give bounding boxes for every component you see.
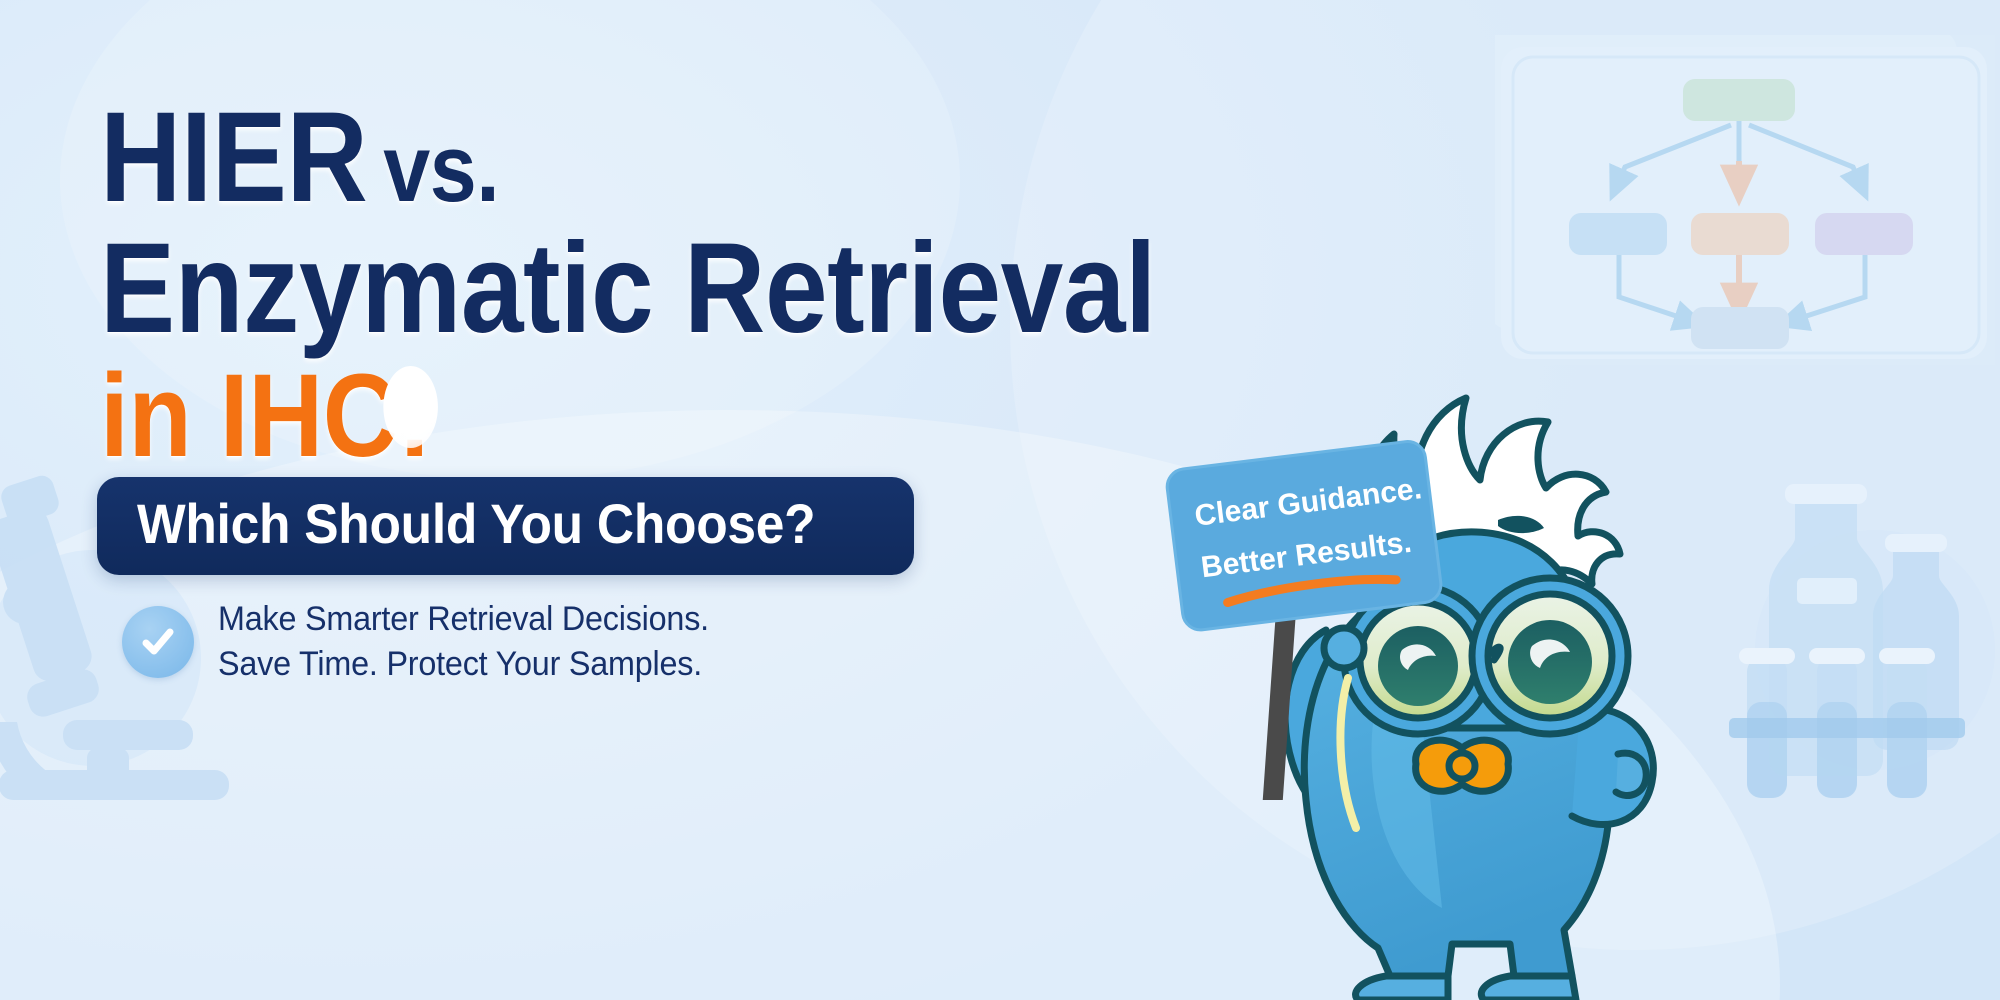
- headline-vs: vs.: [383, 115, 499, 222]
- headline-block: HIERvs. Enzymatic Retrieval in IHC:: [100, 95, 1220, 475]
- headline-line-1: HIERvs.: [100, 95, 1086, 222]
- decision-flowchart-watermark: [1495, 35, 1995, 355]
- banner-canvas: HIERvs. Enzymatic Retrieval in IHC: Whic…: [0, 0, 2000, 1000]
- subhead-badge-label: Which Should You Choose?: [137, 496, 815, 552]
- headline-hier: HIER: [100, 86, 367, 229]
- check-circle-icon: [122, 606, 194, 678]
- headline-line-3: in IHC:: [100, 358, 1086, 475]
- tagline-line-2: Save Time. Protect Your Samples.: [218, 642, 709, 687]
- tagline-text: Make Smarter Retrieval Decisions. Save T…: [218, 597, 709, 687]
- headline-in-ihc-text: in IHC:: [100, 350, 431, 482]
- tagline-row: Make Smarter Retrieval Decisions. Save T…: [122, 597, 735, 687]
- tagline-line-1: Make Smarter Retrieval Decisions.: [218, 597, 709, 642]
- headline-line-2: Enzymatic Retrieval: [100, 226, 1086, 353]
- test-tubes-and-bottles-icon: [1725, 470, 2000, 805]
- clear-guidance-sign: Clear Guidance. Better Results.: [1160, 440, 1490, 800]
- subhead-badge: Which Should You Choose?: [97, 477, 914, 575]
